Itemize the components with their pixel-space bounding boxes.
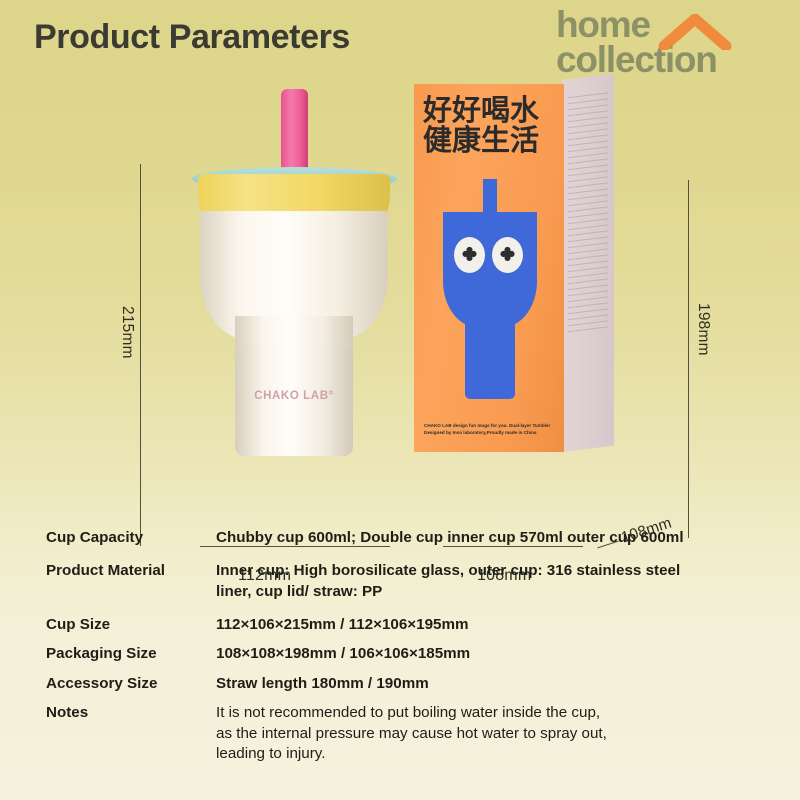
table-row: Cup Capacity Chubby cup 600ml; Double cu… xyxy=(46,528,758,548)
spec-value-packaging-size: 108×108×198mm / 106×106×185mm xyxy=(216,644,758,664)
cup-height-dimension-label: 215mm xyxy=(118,306,136,359)
clover-pupil-icon xyxy=(461,246,478,263)
cup-product-image: CHAKO LAB° xyxy=(178,78,408,478)
house-roof-chevron-icon xyxy=(658,14,732,50)
spec-value-notes: It is not recommended to put boiling wat… xyxy=(216,703,758,764)
spec-value-product-material: Inner cup: High borosilicate glass, oute… xyxy=(216,561,758,602)
cup-height-dimension-line xyxy=(140,164,141,546)
table-row: Product Material Inner cup: High borosil… xyxy=(46,561,758,602)
box-headline-line1: 好好喝水 xyxy=(423,96,557,126)
spec-label-cup-capacity: Cup Capacity xyxy=(46,528,216,548)
box-front-panel: 好好喝水 健康生活 xyxy=(414,84,564,452)
table-row: Cup Size 112×106×215mm / 112×106×195mm xyxy=(46,615,758,635)
table-row: Packaging Size 108×108×198mm / 106×106×1… xyxy=(46,644,758,664)
product-scene: CHAKO LAB° 好好喝水 健康生活 xyxy=(0,78,800,528)
packaging-box-image: 好好喝水 健康生活 xyxy=(400,80,700,480)
box-headline-line2: 健康生活 xyxy=(423,126,557,156)
spec-value-cup-capacity: Chubby cup 600ml; Double cup inner cup 5… xyxy=(216,528,758,548)
box-headline: 好好喝水 健康生活 xyxy=(423,96,557,155)
spec-value-accessory-size: Straw length 180mm / 190mm xyxy=(216,674,758,694)
spec-label-cup-size: Cup Size xyxy=(46,615,216,635)
box-fineprint: CHAKO LAB design fun mugs for you. Dual-… xyxy=(424,422,558,436)
table-row: Notes It is not recommended to put boili… xyxy=(46,703,758,764)
box-fineprint-line1: CHAKO LAB design fun mugs for you. Dual-… xyxy=(424,422,558,429)
box-height-dimension-line xyxy=(688,180,689,538)
spec-label-accessory-size: Accessory Size xyxy=(46,674,216,694)
spec-label-product-material: Product Material xyxy=(46,561,216,581)
spec-table: Cup Capacity Chubby cup 600ml; Double cu… xyxy=(46,528,758,777)
box-side-text-lines xyxy=(568,92,608,397)
cup-brand-mark: CHAKO LAB° xyxy=(235,390,353,402)
box-tumbler-mascot xyxy=(440,179,540,401)
page-title: Product Parameters xyxy=(34,18,350,57)
mascot-body xyxy=(443,219,537,327)
mascot-eye-left xyxy=(454,237,485,273)
table-row: Accessory Size Straw length 180mm / 190m… xyxy=(46,674,758,694)
mascot-base xyxy=(465,315,515,399)
product-parameters-page: Product Parameters home collection CHAKO… xyxy=(0,0,800,800)
spec-label-packaging-size: Packaging Size xyxy=(46,644,216,664)
box-side-panel xyxy=(562,74,614,452)
clover-pupil-icon xyxy=(499,246,516,263)
spec-label-notes: Notes xyxy=(46,703,216,723)
mascot-eye-right xyxy=(492,237,523,273)
box-height-dimension-label: 198mm xyxy=(694,303,712,356)
box-fineprint-line2: Designed by Inso laboratory,Proudly made… xyxy=(424,429,558,436)
cup-straw xyxy=(281,89,308,179)
spec-value-cup-size: 112×106×215mm / 112×106×195mm xyxy=(216,615,758,635)
